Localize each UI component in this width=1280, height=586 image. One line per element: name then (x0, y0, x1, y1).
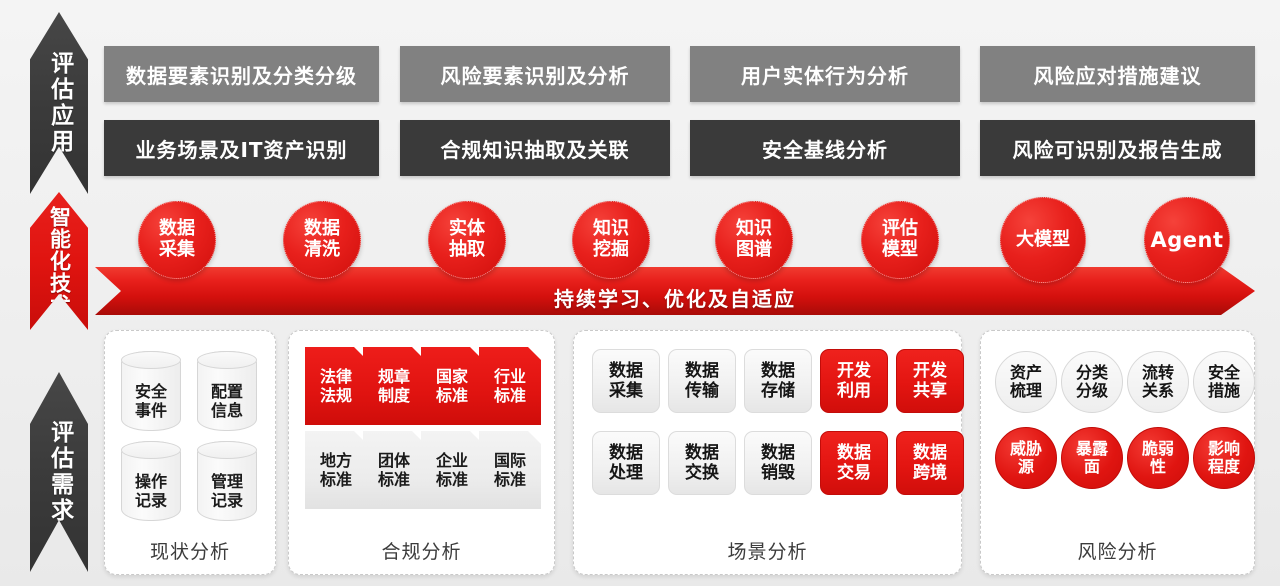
item-line2: 存储 (761, 381, 795, 401)
item-line1: 管理 (211, 472, 243, 491)
item-line1: 数据 (609, 361, 643, 381)
item-line1: 流转 (1142, 364, 1174, 382)
side-arrow-assessment-requirement: 评估需求 (30, 372, 88, 572)
diagram-canvas: 评估应用 智能化技术 评估需求 数据要素识别及分类分级 风险要素识别及分析 用户… (0, 0, 1280, 586)
doc-enterprise-standard[interactable]: 企业 标准 (421, 431, 483, 509)
top-dark-box-2[interactable]: 合规知识抽取及关联 (400, 120, 670, 176)
panel-title: 现状分析 (105, 537, 275, 564)
arrow-band-label: 持续学习、优化及自适应 (95, 267, 1255, 315)
item-line2: 交易 (837, 463, 871, 483)
tech-circle-line1: Agent (1150, 228, 1223, 252)
scene-box-data-exchange[interactable]: 数据 交换 (668, 431, 736, 495)
item-line1: 数据 (685, 443, 719, 463)
item-line2: 分级 (1076, 382, 1108, 400)
top-gray-box-1[interactable]: 数据要素识别及分类分级 (104, 46, 379, 102)
item-line2: 记录 (135, 491, 167, 510)
top-dark-box-4[interactable]: 风险可识别及报告生成 (980, 120, 1255, 176)
item-line1: 开发 (913, 361, 947, 381)
tech-circle-line2: 挖掘 (593, 240, 629, 261)
top-dark-box-1-label: 业务场景及IT资产识别 (135, 134, 347, 163)
item-line2: 标准 (494, 386, 526, 405)
panel-current-state-analysis: 安全 事件 配置 信息 操作 记录 管理 记录 现状分析 (104, 330, 276, 575)
cylinder-configuration-info[interactable]: 配置 信息 (197, 351, 257, 431)
top-dark-box-2-label: 合规知识抽取及关联 (441, 134, 630, 163)
item-line2: 梳理 (1010, 382, 1042, 400)
top-dark-box-1[interactable]: 业务场景及IT资产识别 (104, 120, 379, 176)
tech-circle-data-collection[interactable]: 数据 采集 (138, 201, 216, 279)
item-line2: 性 (1150, 458, 1166, 476)
item-line2: 面 (1084, 458, 1100, 476)
item-line2: 关系 (1142, 382, 1174, 400)
scene-box-data-destruction[interactable]: 数据 销毁 (744, 431, 812, 495)
doc-local-standard[interactable]: 地方 标准 (305, 431, 367, 509)
top-dark-box-4-label: 风险可识别及报告生成 (1013, 134, 1223, 163)
item-line1: 数据 (837, 443, 871, 463)
item-line2: 交换 (685, 463, 719, 483)
item-line2: 标准 (494, 470, 526, 489)
item-line1: 安全 (1208, 364, 1240, 382)
item-line1: 团体 (378, 451, 410, 470)
top-gray-box-3[interactable]: 用户实体行为分析 (690, 46, 960, 102)
item-line1: 数据 (913, 443, 947, 463)
side-arrow-label: 智能化技术 (47, 206, 70, 316)
risk-circle-flow-relationship[interactable]: 流转 关系 (1127, 351, 1189, 413)
side-arrow-label: 评估需求 (46, 420, 71, 524)
item-line2: 跨境 (913, 463, 947, 483)
side-arrow-label: 评估应用 (46, 51, 71, 155)
item-line1: 配置 (211, 382, 243, 401)
top-gray-box-3-label: 用户实体行为分析 (741, 60, 909, 89)
cylinder-security-event[interactable]: 安全 事件 (121, 351, 181, 431)
item-line1: 数据 (609, 443, 643, 463)
doc-laws-regulations[interactable]: 法律 法规 (305, 347, 367, 425)
tech-circle-line1: 实体 (449, 219, 485, 240)
top-gray-box-4-label: 风险应对措施建议 (1034, 60, 1202, 89)
top-gray-box-2-label: 风险要素识别及分析 (441, 60, 630, 89)
scene-box-cross-border-data[interactable]: 数据 跨境 (896, 431, 964, 495)
top-gray-box-4[interactable]: 风险应对措施建议 (980, 46, 1255, 102)
tech-circle-line2: 模型 (882, 240, 918, 261)
item-line1: 数据 (685, 361, 719, 381)
item-line2: 信息 (211, 401, 243, 420)
item-line1: 行业 (494, 367, 526, 386)
panel-title: 合规分析 (289, 537, 554, 564)
item-line2: 法规 (320, 386, 352, 405)
tech-circle-knowledge-mining[interactable]: 知识 挖掘 (572, 201, 650, 279)
tech-circle-line1: 评估 (882, 219, 918, 240)
scene-box-development-sharing[interactable]: 开发 共享 (896, 349, 964, 413)
tech-circle-knowledge-graph[interactable]: 知识 图谱 (715, 201, 793, 279)
tech-circle-line1: 知识 (593, 219, 629, 240)
item-line1: 法律 (320, 367, 352, 386)
tech-circle-entity-extraction[interactable]: 实体 抽取 (428, 201, 506, 279)
risk-circle-vulnerability[interactable]: 脆弱 性 (1127, 427, 1189, 489)
scene-box-data-storage[interactable]: 数据 存储 (744, 349, 812, 413)
item-line1: 企业 (436, 451, 468, 470)
side-arrow-intelligent-technology: 智能化技术 (30, 192, 88, 330)
scene-box-data-collection[interactable]: 数据 采集 (592, 349, 660, 413)
panel-risk-analysis: 资产 梳理 分类 分级 流转 关系 安全 措施 威胁 源 暴露 面 脆弱 性 影… (980, 330, 1255, 575)
item-line2: 制度 (378, 386, 410, 405)
item-line2: 采集 (609, 381, 643, 401)
tech-circle-line2: 采集 (159, 240, 195, 261)
risk-circle-threat-source[interactable]: 威胁 源 (995, 427, 1057, 489)
tech-circle-line1: 数据 (304, 219, 340, 240)
top-dark-box-3-label: 安全基线分析 (762, 134, 888, 163)
tech-circle-line2: 抽取 (449, 240, 485, 261)
item-line1: 影响 (1208, 440, 1240, 458)
panel-scenario-analysis: 数据 采集 数据 传输 数据 存储 开发 利用 开发 共享 数据 处理 数据 交… (573, 330, 962, 575)
tech-circle-line1: 大模型 (1016, 230, 1070, 251)
doc-rules-systems[interactable]: 规章 制度 (363, 347, 425, 425)
doc-industry-standard[interactable]: 行业 标准 (479, 347, 541, 425)
item-line1: 数据 (761, 361, 795, 381)
tech-circle-large-model[interactable]: 大模型 (1000, 197, 1086, 283)
item-line2: 标准 (436, 470, 468, 489)
item-line1: 国际 (494, 451, 526, 470)
item-line2: 标准 (320, 470, 352, 489)
item-line1: 规章 (378, 367, 410, 386)
risk-circle-classification-grading[interactable]: 分类 分级 (1061, 351, 1123, 413)
scene-box-data-processing[interactable]: 数据 处理 (592, 431, 660, 495)
risk-circle-security-measures[interactable]: 安全 措施 (1193, 351, 1255, 413)
item-line2: 记录 (211, 491, 243, 510)
tech-circle-assessment-model[interactable]: 评估 模型 (861, 201, 939, 279)
panel-title: 场景分析 (574, 537, 961, 564)
doc-national-standard[interactable]: 国家 标准 (421, 347, 483, 425)
top-gray-box-2[interactable]: 风险要素识别及分析 (400, 46, 670, 102)
item-line2: 程度 (1208, 458, 1240, 476)
item-line2: 传输 (685, 381, 719, 401)
top-gray-box-1-label: 数据要素识别及分类分级 (126, 60, 357, 89)
item-line1: 脆弱 (1142, 440, 1174, 458)
item-line2: 标准 (436, 386, 468, 405)
item-line1: 威胁 (1010, 440, 1042, 458)
cylinder-management-record[interactable]: 管理 记录 (197, 441, 257, 521)
risk-circle-exposure-surface[interactable]: 暴露 面 (1061, 427, 1123, 489)
tech-circle-line2: 图谱 (736, 240, 772, 261)
tech-circle-line1: 知识 (736, 219, 772, 240)
doc-group-standard[interactable]: 团体 标准 (363, 431, 425, 509)
item-line2: 销毁 (761, 463, 795, 483)
panel-title: 风险分析 (981, 537, 1254, 564)
scene-box-data-transmission[interactable]: 数据 传输 (668, 349, 736, 413)
item-line1: 资产 (1010, 364, 1042, 382)
item-line2: 措施 (1208, 382, 1240, 400)
item-line2: 标准 (378, 470, 410, 489)
scene-box-development-utilization[interactable]: 开发 利用 (820, 349, 888, 413)
item-line2: 利用 (837, 381, 871, 401)
item-line1: 开发 (837, 361, 871, 381)
item-line1: 分类 (1076, 364, 1108, 382)
cylinder-operation-record[interactable]: 操作 记录 (121, 441, 181, 521)
tech-circle-agent[interactable]: Agent (1144, 197, 1230, 283)
item-line2: 事件 (135, 401, 167, 420)
risk-circle-asset-inventory[interactable]: 资产 梳理 (995, 351, 1057, 413)
continuous-learning-arrow-band: 持续学习、优化及自适应 (95, 267, 1255, 315)
item-line1: 操作 (135, 472, 167, 491)
item-line1: 国家 (436, 367, 468, 386)
tech-circle-data-cleansing[interactable]: 数据 清洗 (283, 201, 361, 279)
tech-circle-line2: 清洗 (304, 240, 340, 261)
item-line2: 处理 (609, 463, 643, 483)
scene-box-data-trading[interactable]: 数据 交易 (820, 431, 888, 495)
item-line1: 安全 (135, 382, 167, 401)
item-line1: 地方 (320, 451, 352, 470)
doc-international-standard[interactable]: 国际 标准 (479, 431, 541, 509)
item-line2: 共享 (913, 381, 947, 401)
top-dark-box-3[interactable]: 安全基线分析 (690, 120, 960, 176)
risk-circle-impact-level[interactable]: 影响 程度 (1193, 427, 1255, 489)
side-arrow-assessment-application: 评估应用 (30, 12, 88, 194)
panel-compliance-analysis: 法律 法规 规章 制度 国家 标准 行业 标准 地方 标准 团体 标准 企业 标… (288, 330, 555, 575)
item-line1: 暴露 (1076, 440, 1108, 458)
item-line2: 源 (1018, 458, 1034, 476)
item-line1: 数据 (761, 443, 795, 463)
tech-circle-line1: 数据 (159, 219, 195, 240)
